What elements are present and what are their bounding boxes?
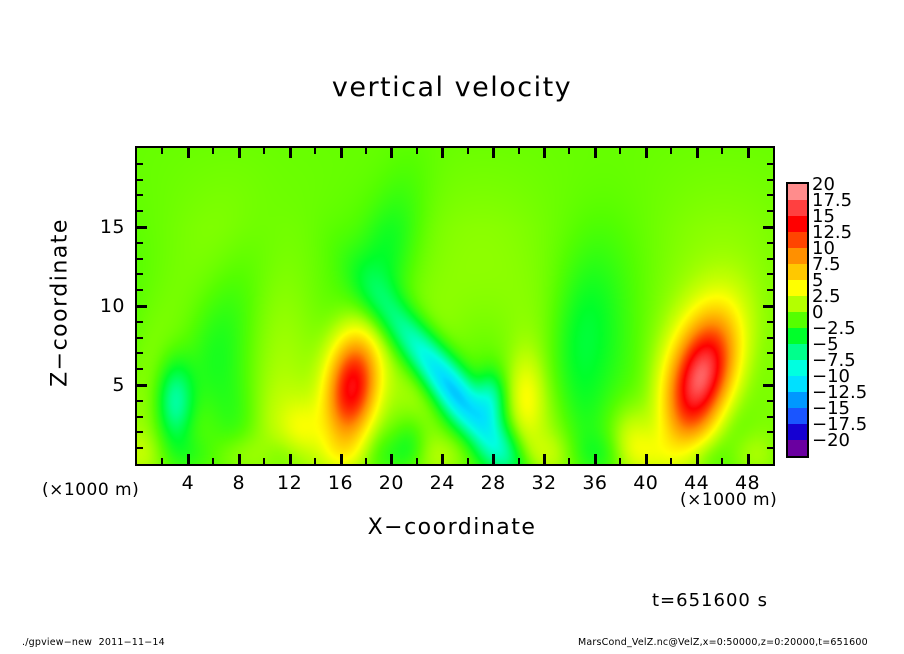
colorbar-swatch-5 [788, 280, 807, 296]
x-tick-label-36: 36 [570, 472, 620, 494]
colorbar-swatch-15 [788, 216, 807, 232]
x-tick-top-14 [314, 148, 316, 154]
x-tick-bottom-42 [670, 458, 672, 464]
y-tick-left-16 [137, 210, 143, 212]
x-tick-bottom-48 [747, 454, 750, 464]
y-tick-left-1 [137, 447, 143, 449]
colorbar-swatch--2.5 [788, 328, 807, 344]
x-tick-bottom-18 [365, 458, 367, 464]
x-tick-label-24: 24 [417, 472, 467, 494]
x-axis-title: X−coordinate [0, 515, 904, 540]
x-tick-bottom-14 [314, 458, 316, 464]
colorbar-swatch-12.5 [788, 232, 807, 248]
x-tick-bottom-34 [568, 458, 570, 464]
y-tick-right-8 [767, 337, 773, 339]
x-tick-bottom-20 [390, 454, 393, 464]
colorbar-swatch--20 [788, 440, 807, 456]
y-axis-title: Z−coordinate [48, 203, 73, 403]
y-tick-right-5 [763, 384, 773, 387]
x-tick-bottom-44 [696, 454, 699, 464]
colorbar-swatch--12.5 [788, 392, 807, 408]
x-tick-top-8 [238, 148, 241, 158]
x-tick-top-30 [518, 148, 520, 154]
y-axis-unit-label: (×1000 m) [42, 480, 139, 500]
y-tick-right-18 [767, 179, 773, 181]
y-tick-left-9 [137, 321, 143, 323]
y-tick-right-12 [767, 273, 773, 275]
x-tick-label-16: 16 [316, 472, 366, 494]
x-tick-bottom-8 [238, 454, 241, 464]
time-annotation: t=651600 s [652, 590, 768, 611]
chart-title: vertical velocity [0, 72, 904, 103]
x-tick-top-18 [365, 148, 367, 154]
y-tick-left-12 [137, 273, 143, 275]
x-tick-top-6 [212, 148, 214, 154]
y-tick-right-2 [767, 431, 773, 433]
x-tick-top-22 [416, 148, 418, 154]
y-tick-right-6 [767, 368, 773, 370]
x-tick-bottom-36 [594, 454, 597, 464]
colorbar-swatch-17.5 [788, 200, 807, 216]
y-tick-left-13 [137, 258, 143, 260]
y-tick-left-6 [137, 368, 143, 370]
colorbar-swatch--10 [788, 376, 807, 392]
x-tick-label-4: 4 [163, 472, 213, 494]
y-tick-left-17 [137, 194, 143, 196]
y-tick-right-16 [767, 210, 773, 212]
y-tick-left-18 [137, 179, 143, 181]
plot-area [135, 146, 775, 466]
y-tick-left-15 [137, 226, 147, 229]
colorbar-swatch-0 [788, 312, 807, 328]
colorbar-swatch--5 [788, 344, 807, 360]
y-tick-left-11 [137, 289, 143, 291]
x-tick-top-38 [619, 148, 621, 154]
y-tick-right-19 [767, 163, 773, 165]
x-tick-bottom-28 [492, 454, 495, 464]
y-tick-left-8 [137, 337, 143, 339]
colorbar-swatch-2.5 [788, 296, 807, 312]
colorbar-swatch-20 [788, 184, 807, 200]
x-tick-top-24 [441, 148, 444, 158]
x-tick-top-34 [568, 148, 570, 154]
y-tick-left-4 [137, 400, 143, 402]
x-tick-bottom-6 [212, 458, 214, 464]
figure-root: vertical velocity 4812162024283236404448… [0, 0, 904, 654]
x-tick-top-48 [747, 148, 750, 158]
y-tick-right-15 [763, 226, 773, 229]
x-tick-bottom-10 [263, 458, 265, 464]
x-tick-bottom-24 [441, 454, 444, 464]
y-tick-right-14 [767, 242, 773, 244]
x-tick-top-10 [263, 148, 265, 154]
x-tick-bottom-32 [543, 454, 546, 464]
x-tick-bottom-30 [518, 458, 520, 464]
footer-right-annotation: MarsCond_VelZ.nc@VelZ,x=0:50000,z=0:2000… [578, 637, 868, 648]
x-tick-label-12: 12 [265, 472, 315, 494]
y-tick-left-3 [137, 416, 143, 418]
y-tick-right-3 [767, 416, 773, 418]
x-tick-top-20 [390, 148, 393, 158]
x-tick-top-12 [289, 148, 292, 158]
y-tick-right-4 [767, 400, 773, 402]
x-tick-bottom-40 [645, 454, 648, 464]
x-tick-bottom-38 [619, 458, 621, 464]
x-tick-bottom-12 [289, 454, 292, 464]
colorbar-swatch--7.5 [788, 360, 807, 376]
y-tick-right-17 [767, 194, 773, 196]
colorbar-swatch--17.5 [788, 424, 807, 440]
x-tick-bottom-2 [161, 458, 163, 464]
y-tick-label-5: 5 [79, 374, 125, 396]
colorbar-swatch-7.5 [788, 264, 807, 280]
colorbar [786, 182, 809, 458]
x-tick-label-40: 40 [621, 472, 671, 494]
x-tick-label-32: 32 [519, 472, 569, 494]
x-tick-label-28: 28 [468, 472, 518, 494]
y-tick-right-1 [767, 447, 773, 449]
x-axis-unit-label: (×1000 m) [680, 490, 777, 510]
y-tick-left-14 [137, 242, 143, 244]
y-tick-right-7 [767, 352, 773, 354]
y-tick-left-10 [137, 305, 147, 308]
x-tick-bottom-26 [467, 458, 469, 464]
x-tick-top-4 [187, 148, 190, 158]
x-tick-bottom-22 [416, 458, 418, 464]
y-tick-left-2 [137, 431, 143, 433]
x-tick-top-46 [721, 148, 723, 154]
y-tick-left-19 [137, 163, 143, 165]
x-tick-bottom-4 [187, 454, 190, 464]
y-tick-left-5 [137, 384, 147, 387]
vertical-velocity-heatmap [137, 148, 773, 464]
colorbar-swatch--15 [788, 408, 807, 424]
colorbar-swatch-10 [788, 248, 807, 264]
x-tick-label-20: 20 [366, 472, 416, 494]
x-tick-top-16 [340, 148, 343, 158]
y-tick-right-11 [767, 289, 773, 291]
y-tick-label-10: 10 [79, 295, 125, 317]
x-tick-top-26 [467, 148, 469, 154]
x-tick-top-42 [670, 148, 672, 154]
y-tick-right-10 [763, 305, 773, 308]
x-tick-top-36 [594, 148, 597, 158]
x-tick-bottom-46 [721, 458, 723, 464]
x-tick-top-44 [696, 148, 699, 158]
footer-left-annotation: ./gpview−new 2011−11−14 [22, 637, 165, 648]
y-tick-right-9 [767, 321, 773, 323]
x-tick-top-2 [161, 148, 163, 154]
colorbar-label--20: −20 [812, 432, 850, 450]
x-tick-top-32 [543, 148, 546, 158]
y-tick-left-7 [137, 352, 143, 354]
y-tick-label-15: 15 [79, 216, 125, 238]
x-tick-top-40 [645, 148, 648, 158]
x-tick-label-8: 8 [214, 472, 264, 494]
x-tick-top-28 [492, 148, 495, 158]
x-tick-bottom-16 [340, 454, 343, 464]
y-tick-right-13 [767, 258, 773, 260]
